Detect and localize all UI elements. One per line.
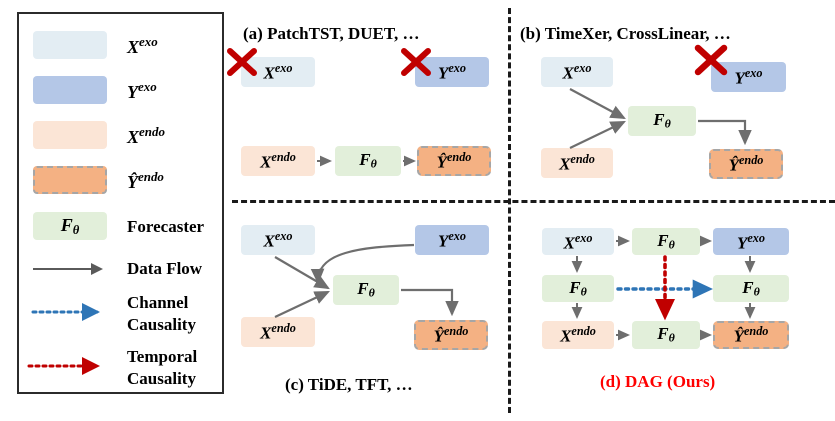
legend-label-x-endo-sup: endo [139,124,165,139]
panel-c-edge-xendo-to-forecaster [275,292,328,317]
legend-label-channel-causality: Channel Causality [127,292,196,336]
panel-a-node-y-hat-endo-sup: endo [447,150,471,164]
legend-arrow-channel-causality [31,302,113,322]
panel-d-node-forecaster-right-base: F [742,278,753,297]
panel-c-node-forecaster-base: F [357,279,368,298]
panel-c-node-y-exo: Yexo [415,225,489,255]
panel-b-node-x-endo-sup: endo [570,152,594,166]
legend-swatch-y-exo [33,76,107,104]
panel-b-node-y-exo-base: Y [734,69,744,88]
legend-label-temporal-causality: Temporal Causality [127,346,197,390]
panel-d-node-x-endo: Xendo [542,321,614,349]
legend-arrow-temporal-causality [27,356,113,376]
legend-label-y-hat-endo-base: Ŷ [127,172,138,192]
panel-b-node-forecaster: Fθ [628,106,696,136]
panel-c-node-x-exo-sup: exo [275,229,293,243]
legend-label-x-exo-base: X [127,37,139,57]
panel-c-edge-xexo-to-forecaster [275,257,328,288]
legend-label-y-hat-endo-sup: endo [138,169,164,184]
panel-c-node-x-exo-base: X [263,232,274,251]
panel-d-node-forecaster-top: Fθ [632,228,700,255]
divider-vertical [508,8,511,413]
legend-label-y-exo-sup: exo [138,79,157,94]
panel-b-node-y-exo-sup: exo [745,66,763,80]
legend-swatch-forecaster: Fθ [33,212,107,240]
legend-arrow-data-flow [31,259,113,279]
panel-a-caption: (a) PatchTST, DUET, … [243,24,419,44]
panel-c-edge-forecaster-to-yhat [401,290,452,314]
legend-label-x-exo-sup: exo [139,34,158,49]
panel-d-node-x-exo-base: X [563,233,574,252]
divider-horizontal [232,200,835,203]
panel-b-caption: (b) TimeXer, CrossLinear, … [520,24,731,44]
legend-swatch-x-endo [33,121,107,149]
panel-a-node-forecaster-base: F [359,150,370,169]
figure-root: Xexo Yexo Xendo Ŷendo Fθ Forecaster [0,0,835,421]
panel-a-node-x-endo: Xendo [241,146,315,176]
panel-c-node-forecaster: Fθ [333,275,399,305]
panel-b-node-x-endo-base: X [559,155,570,174]
panel-a-node-y-hat-endo: Ŷendo [417,146,491,176]
legend-label-temporal-causality-line2: Causality [127,368,197,390]
panel-d-node-forecaster-bottom-sub: θ [669,331,675,345]
panel-b-node-y-exo: Yexo [711,62,786,92]
legend-label-y-exo-base: Y [127,82,138,102]
panel-d-node-y-hat-endo-sup: endo [744,324,768,338]
panel-c-caption: (c) TiDE, TFT, … [285,375,413,395]
legend-label-y-hat-endo: Ŷendo [127,169,164,193]
panel-d-node-x-endo-base: X [560,327,571,346]
legend-label-forecaster: Forecaster [127,217,204,237]
panel-b-edge-forecaster-to-yhat [698,121,745,143]
legend-label-x-endo-base: X [127,127,139,147]
panel-d-node-x-exo: Xexo [542,228,614,255]
panel-d-caption: (d) DAG (Ours) [600,372,715,392]
panel-d-node-y-hat-endo-base: Ŷ [734,327,744,346]
panel-a-node-forecaster-sub: θ [371,157,377,171]
legend-label-x-endo: Xendo [127,124,165,148]
panel-d-node-forecaster-bottom-base: F [657,324,668,343]
legend-forecaster-symbol-base: F [61,215,73,235]
panel-b-node-forecaster-base: F [653,110,664,129]
panel-b-node-y-hat-endo: Ŷendo [709,149,783,179]
panel-d-node-y-hat-endo: Ŷendo [713,321,789,349]
legend-label-data-flow: Data Flow [127,259,202,279]
panel-c-node-x-endo-sup: endo [271,321,295,335]
panel-b-edge-xexo-to-forecaster [570,89,624,118]
panel-d-node-y-exo: Yexo [713,228,789,255]
panel-c-node-y-hat-endo-base: Ŷ [434,327,444,346]
panel-c-node-y-exo-sup: exo [448,229,466,243]
panel-b-node-forecaster-sub: θ [665,117,671,131]
panel-c-node-y-hat-endo: Ŷendo [414,320,488,350]
panel-a-node-x-exo: Xexo [241,57,315,87]
panel-d-node-forecaster-top-sub: θ [669,237,675,251]
panel-b-edge-xendo-to-forecaster [570,122,624,148]
panel-b-node-x-endo: Xendo [541,148,613,178]
panel-a-node-y-exo-base: Y [438,64,448,83]
panel-d-node-forecaster-left: Fθ [542,275,614,302]
legend-panel: Xexo Yexo Xendo Ŷendo Fθ Forecaster [17,12,224,394]
panel-d-node-forecaster-right: Fθ [713,275,789,302]
panel-a-node-forecaster: Fθ [335,146,401,176]
panel-c-node-x-endo-base: X [260,324,271,343]
legend-forecaster-symbol-sub: θ [73,222,80,236]
legend-forecaster-symbol: Fθ [61,215,80,238]
panel-d-node-y-exo-sup: exo [747,231,765,245]
legend-label-channel-causality-line1: Channel [127,292,196,314]
panel-c-node-y-hat-endo-sup: endo [444,324,468,338]
panel-d-node-forecaster-right-sub: θ [754,284,760,298]
legend-label-temporal-causality-line1: Temporal [127,346,197,368]
panel-a-node-x-exo-sup: exo [275,61,293,75]
panel-a-node-y-exo-sup: exo [448,61,466,75]
panel-c-node-x-exo: Xexo [241,225,315,255]
panel-c-node-x-endo: Xendo [241,317,315,347]
panel-b-node-y-hat-endo-base: Ŷ [729,156,739,175]
panel-b-node-x-exo: Xexo [541,57,613,87]
panel-a-node-x-endo-sup: endo [271,150,295,164]
panel-a-node-y-exo: Yexo [415,57,489,87]
panel-b-node-x-exo-sup: exo [574,61,592,75]
panel-b-node-x-exo-base: X [562,64,573,83]
panel-c-node-y-exo-base: Y [438,232,448,251]
panel-d-node-forecaster-bottom: Fθ [632,321,700,349]
panel-d-node-forecaster-left-sub: θ [581,284,587,298]
legend-label-channel-causality-line2: Causality [127,314,196,336]
panel-d-node-x-exo-sup: exo [575,231,593,245]
panel-d-node-x-endo-sup: endo [571,324,595,338]
legend-swatch-y-hat-endo [33,166,107,194]
panel-a-node-x-exo-base: X [263,64,274,83]
panel-a-node-y-hat-endo-base: Ŷ [437,153,447,172]
legend-swatch-x-exo [33,31,107,59]
panel-d-node-y-exo-base: Y [737,233,747,252]
panel-d-node-forecaster-left-base: F [569,278,580,297]
panel-c-node-forecaster-sub: θ [369,286,375,300]
panel-d-node-forecaster-top-base: F [657,231,668,250]
legend-label-y-exo: Yexo [127,79,157,103]
panel-b-node-y-hat-endo-sup: endo [739,153,763,167]
panel-a-node-x-endo-base: X [260,153,271,172]
legend-label-x-exo: Xexo [127,34,158,58]
